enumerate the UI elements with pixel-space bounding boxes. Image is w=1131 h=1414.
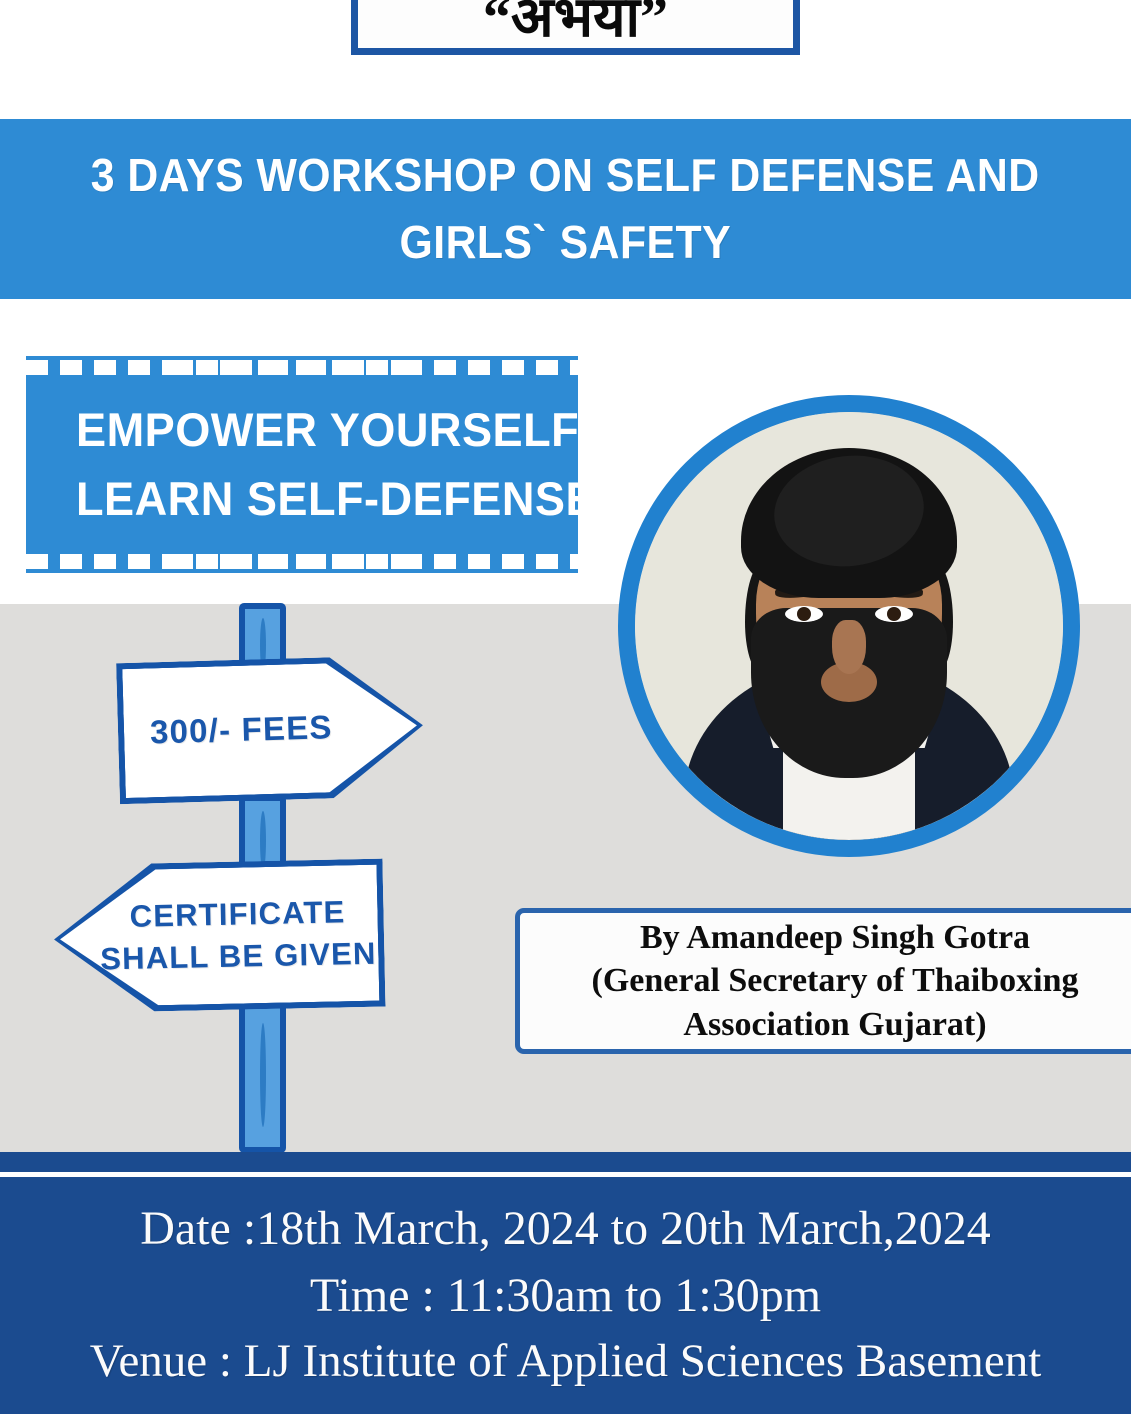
speaker-name: By Amandeep Singh Gotra	[640, 916, 1030, 960]
portrait-eye-left	[785, 606, 823, 622]
empower-banner: EMPOWER YOURSELF LEARN SELF-DEFENSE	[26, 356, 578, 573]
portrait-eye-right	[875, 606, 913, 622]
header-title-line2: GIRLS` SAFETY	[400, 209, 732, 276]
footer-details: Date :18th March, 2024 to 20th March,202…	[0, 1177, 1131, 1414]
header-banner: 3 DAYS WORKSHOP ON SELF DEFENSE AND GIRL…	[0, 119, 1131, 299]
speaker-designation-line2: Association Gujarat)	[683, 1003, 986, 1047]
empower-line2: LEARN SELF-DEFENSE	[76, 465, 596, 533]
certificate-sign-line1: CERTIFICATE	[129, 892, 346, 938]
film-perforation-top-fine	[182, 360, 422, 375]
footer-venue: Venue : LJ Institute of Applied Sciences…	[90, 1333, 1042, 1390]
empower-line1: EMPOWER YOURSELF	[76, 396, 579, 464]
footer-accent-bar	[0, 1152, 1131, 1172]
header-title-line1: 3 DAYS WORKSHOP ON SELF DEFENSE AND	[91, 142, 1040, 209]
fees-sign-text: 300/- FEES	[149, 705, 333, 755]
speaker-credit-box: By Amandeep Singh Gotra (General Secreta…	[515, 908, 1131, 1054]
speaker-designation-line1: (General Secretary of Thaiboxing	[592, 959, 1079, 1003]
organisation-title-box: “अभया”	[351, 0, 800, 55]
film-perforation-bottom-fine	[182, 554, 422, 569]
speaker-photo	[635, 412, 1063, 840]
portrait-nose	[832, 620, 866, 674]
signpost-segment-bottom	[239, 1000, 286, 1153]
footer-date: Date :18th March, 2024 to 20th March,202…	[140, 1200, 991, 1259]
speaker-portrait-circle	[618, 395, 1080, 857]
certificate-sign-line2: SHALL BE GIVEN	[100, 933, 377, 981]
poster-root: “अभया” 3 DAYS WORKSHOP ON SELF DEFENSE A…	[0, 0, 1131, 1414]
footer-time: Time : 11:30am to 1:30pm	[310, 1267, 821, 1326]
organisation-title-text: “अभया”	[483, 0, 668, 48]
